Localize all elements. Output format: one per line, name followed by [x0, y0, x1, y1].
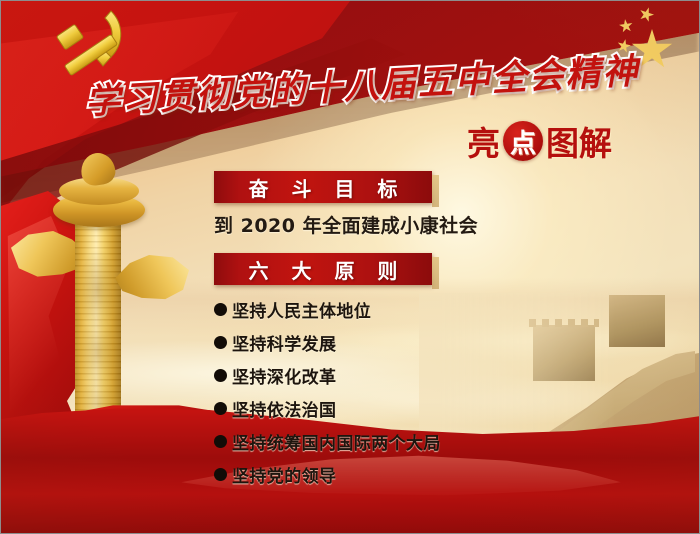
bullet-icon — [214, 468, 227, 481]
bullet-icon — [214, 336, 227, 349]
list-item: 坚持深化改革 — [214, 359, 514, 392]
list-item: 坚持依法治国 — [214, 392, 514, 425]
list-item-label: 坚持人民主体地位 — [232, 297, 371, 322]
bullet-icon — [214, 435, 227, 448]
subtitle-highlight-badge: 点 — [503, 121, 543, 161]
poster-canvas: 学习贯彻党的十八届五中全会精神 亮 点 图解 奋 斗 目 标 到 2020 年全… — [0, 0, 700, 534]
section-banner-principles-label: 六 大 原 则 — [241, 255, 406, 284]
subtitle-highlights: 亮 点 图解 — [467, 117, 612, 165]
section-banner-goal: 奋 斗 目 标 — [214, 171, 432, 203]
list-item: 坚持人民主体地位 — [214, 293, 514, 326]
list-item-label: 坚持科学发展 — [232, 330, 336, 355]
bullet-icon — [214, 402, 227, 415]
principles-list: 坚持人民主体地位 坚持科学发展 坚持深化改革 坚持依法治国 坚持统筹国内国际两个… — [214, 293, 514, 491]
section-banner-principles: 六 大 原 则 — [214, 253, 432, 285]
bullet-icon — [214, 303, 227, 316]
list-item-label: 坚持深化改革 — [232, 363, 336, 388]
list-item-label: 坚持依法治国 — [232, 396, 336, 421]
list-item: 坚持党的领导 — [214, 458, 514, 491]
list-item: 坚持统筹国内国际两个大局 — [214, 425, 514, 458]
list-item-label: 坚持党的领导 — [232, 462, 336, 487]
bullet-icon — [214, 369, 227, 382]
section-banner-goal-label: 奋 斗 目 标 — [241, 173, 406, 202]
goal-body-text: 到 2020 年全面建成小康社会 — [214, 211, 478, 238]
hammer-and-sickle-emblem — [49, 7, 141, 77]
list-item: 坚持科学发展 — [214, 326, 514, 359]
subtitle-part-after: 图解 — [546, 117, 612, 165]
subtitle-part-before: 亮 — [467, 117, 500, 165]
list-item-label: 坚持统筹国内国际两个大局 — [232, 429, 441, 454]
